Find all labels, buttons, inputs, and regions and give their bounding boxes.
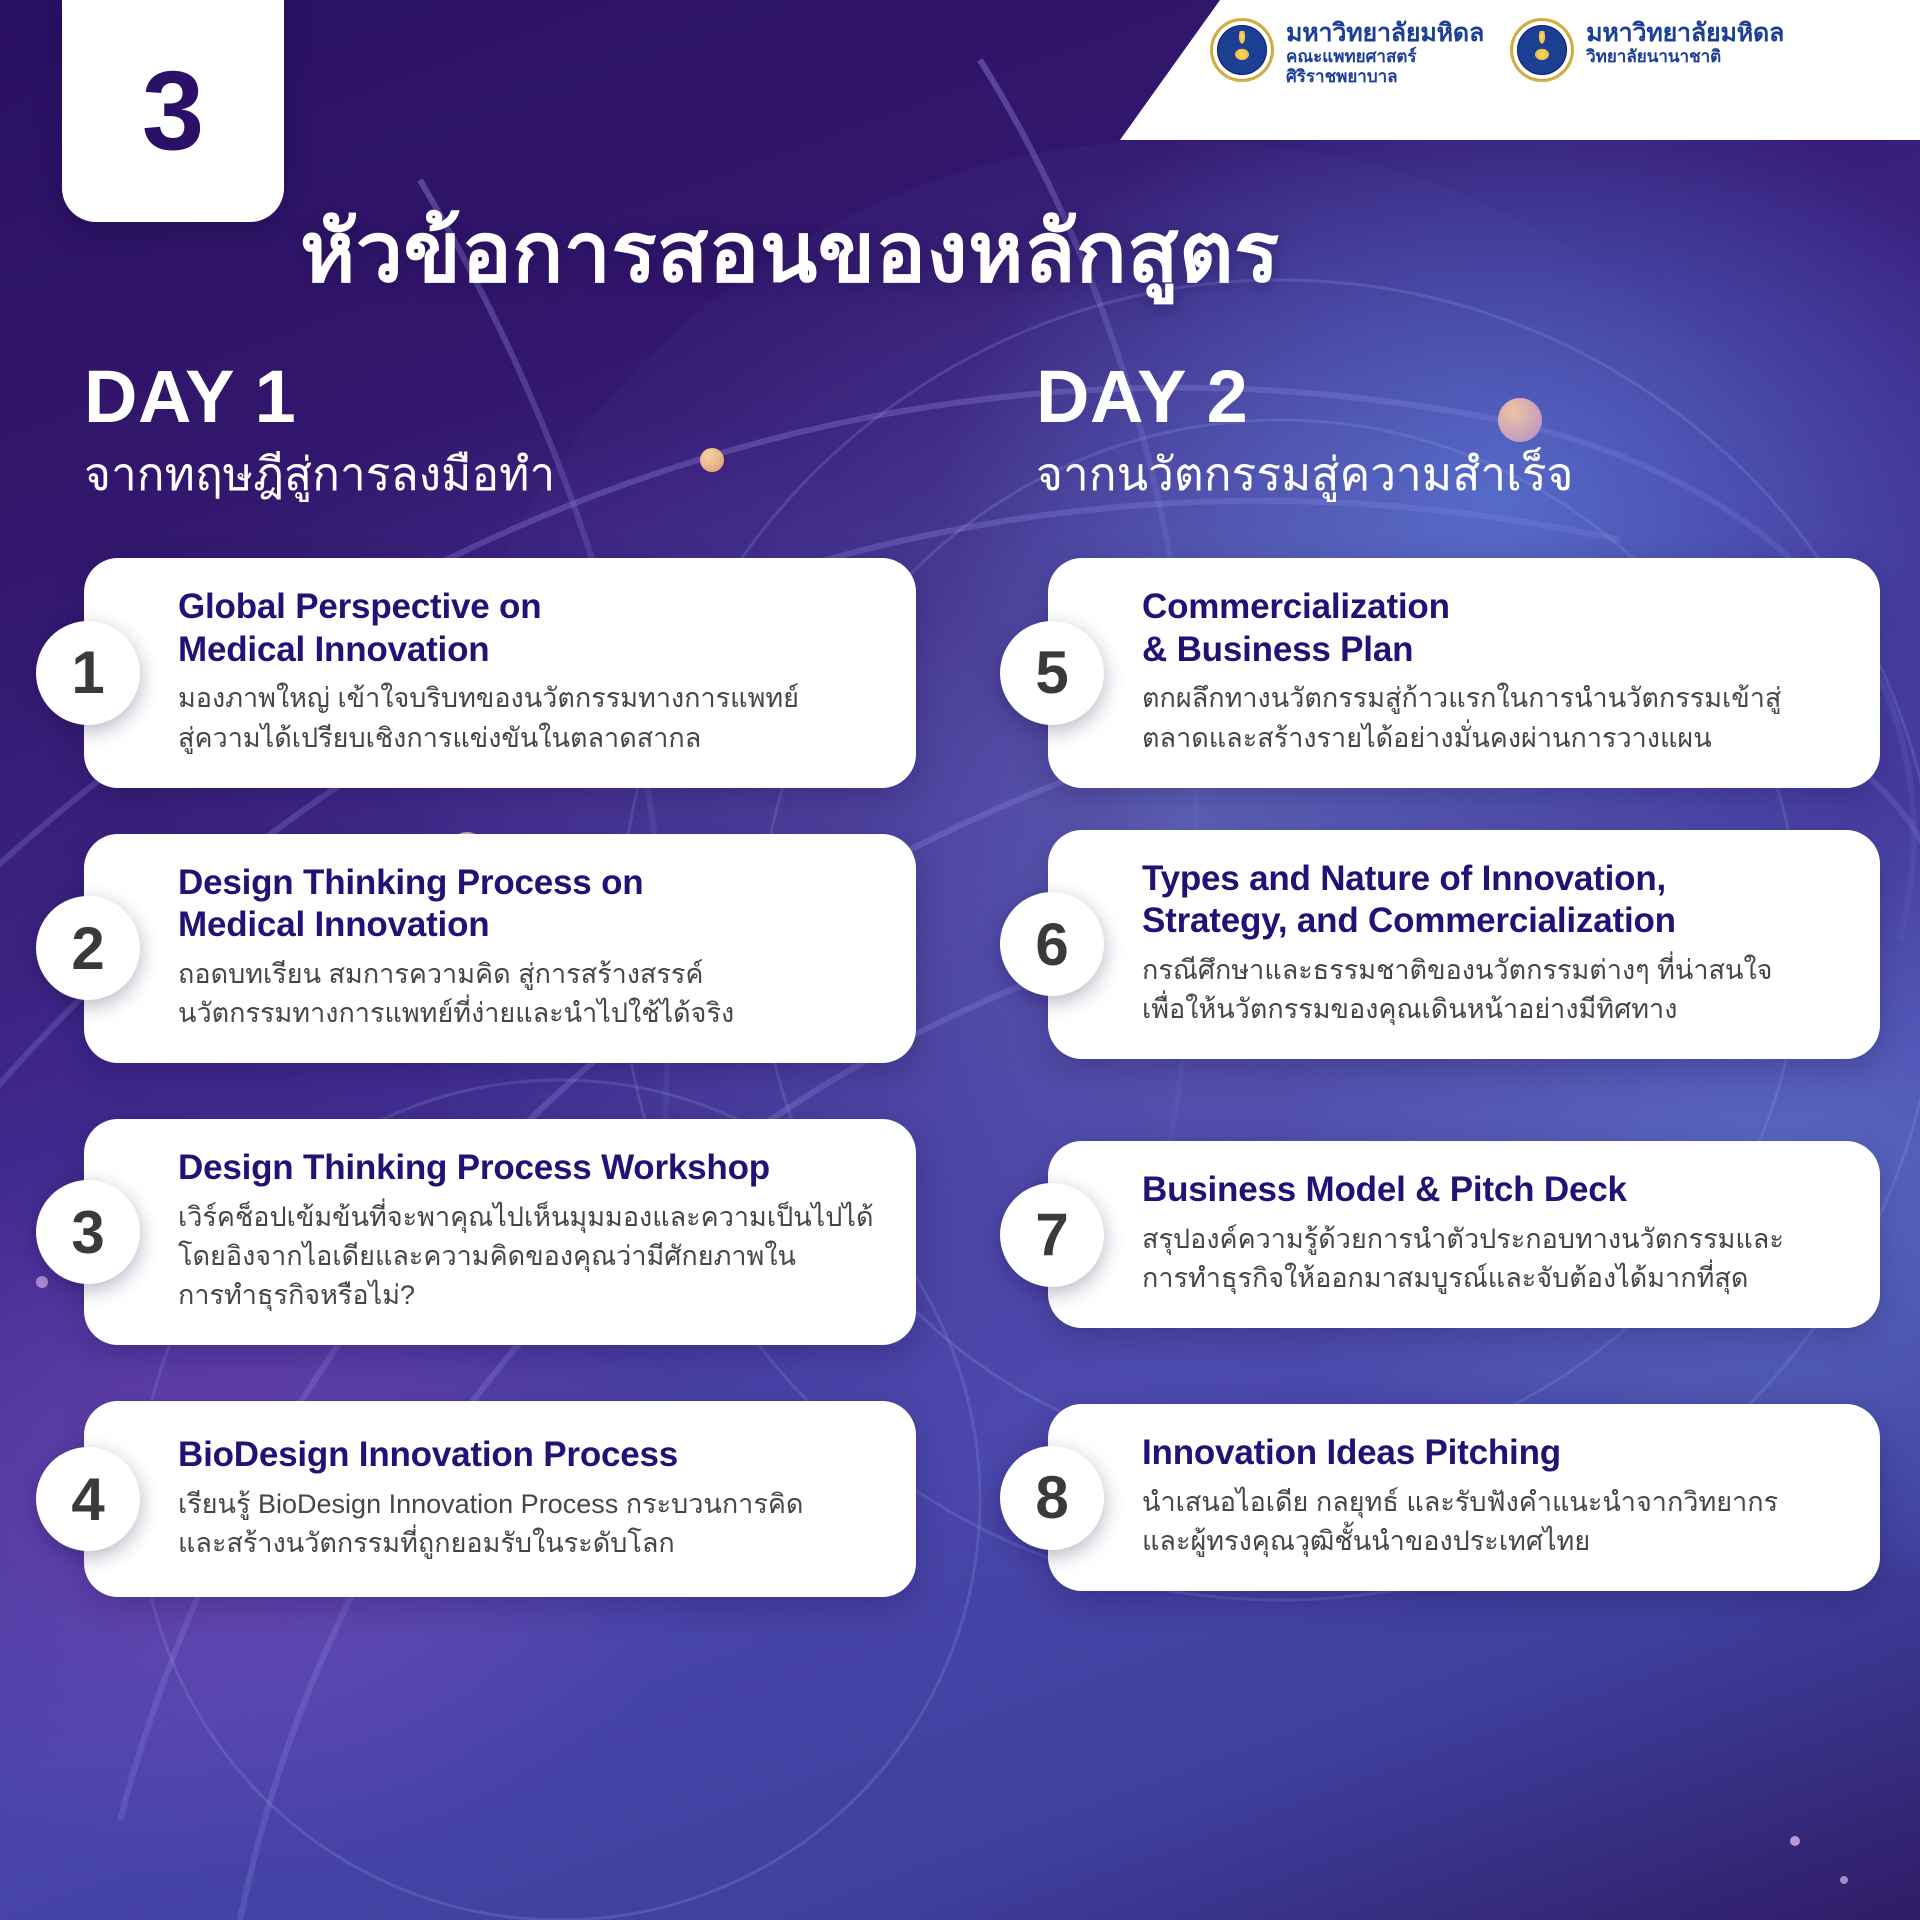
logo-siriraj: มหาวิทยาลัยมหิดล คณะแพทยศาสตร์ ศิริราชพย… xyxy=(1210,18,1484,88)
logo-sub-line1: คณะแพทยศาสตร์ xyxy=(1286,47,1484,67)
topic-title: Global Perspective onMedical Innovation xyxy=(178,586,876,671)
day2-label: DAY 2 xyxy=(1036,360,1574,434)
topic-title: Innovation Ideas Pitching xyxy=(1142,1432,1846,1475)
logo-sub-line2: ศิริราชพยาบาล xyxy=(1286,67,1484,87)
topic-item[interactable]: 4 BioDesign Innovation Process เรียนรู้ … xyxy=(36,1401,916,1597)
logo-group: มหาวิทยาลัยมหิดล คณะแพทยศาสตร์ ศิริราชพย… xyxy=(1210,18,1784,88)
day2-heading: DAY 2 จากนวัตกรรมสู่ความสำเร็จ xyxy=(1036,360,1574,501)
day2-subtitle: จากนวัตกรรมสู่ความสำเร็จ xyxy=(1036,448,1574,501)
decorative-dot xyxy=(700,448,724,472)
day1-label: DAY 1 xyxy=(84,360,555,434)
step-badge: 3 xyxy=(62,0,284,222)
page-title: หัวข้อการสอนของหลักสูตร xyxy=(300,184,1280,318)
logo-main-name: มหาวิทยาลัยมหิดล xyxy=(1586,20,1784,47)
topic-number-badge: 4 xyxy=(36,1447,140,1551)
topic-title: BioDesign Innovation Process xyxy=(178,1434,876,1477)
topic-description: กรณีศึกษาและธรรมชาติของนวัตกรรมต่างๆ ที่… xyxy=(1142,951,1846,1029)
topic-card[interactable]: Business Model & Pitch Deck สรุปองค์ความ… xyxy=(1048,1141,1880,1328)
topic-title: Business Model & Pitch Deck xyxy=(1142,1169,1846,1212)
topic-number-badge: 1 xyxy=(36,621,140,725)
day1-topic-list: 1 Global Perspective onMedical Innovatio… xyxy=(36,558,916,1617)
day1-subtitle: จากทฤษฎีสู่การลงมือทำ xyxy=(84,448,555,501)
topic-description: เรียนรู้ BioDesign Innovation Process กร… xyxy=(178,1485,876,1563)
topic-description: เวิร์คช็อปเข้มข้นที่จะพาคุณไปเห็นมุมมองแ… xyxy=(178,1198,876,1315)
topic-item[interactable]: 1 Global Perspective onMedical Innovatio… xyxy=(36,558,916,788)
topic-number-badge: 2 xyxy=(36,896,140,1000)
poster-root: มหาวิทยาลัยมหิดล คณะแพทยศาสตร์ ศิริราชพย… xyxy=(0,0,1920,1920)
topic-title: Commercialization& Business Plan xyxy=(1142,586,1846,671)
topic-description: สรุปองค์ความรู้ด้วยการนำตัวประกอบทางนวัต… xyxy=(1142,1220,1846,1298)
mahidol-seal-icon xyxy=(1210,18,1274,82)
topic-description: ตกผลึกทางนวัตกรรมสู่ก้าวแรกในการนำนวัตกร… xyxy=(1142,679,1846,757)
topic-title: Design Thinking Process onMedical Innova… xyxy=(178,862,876,947)
day1-heading: DAY 1 จากทฤษฎีสู่การลงมือทำ xyxy=(84,360,555,501)
logo-sub-line1: วิทยาลัยนานาชาติ xyxy=(1586,47,1784,67)
topic-description: ถอดบทเรียน สมการความคิด สู่การสร้างสรรค์… xyxy=(178,955,876,1033)
topic-card[interactable]: Design Thinking Process onMedical Innova… xyxy=(84,834,916,1064)
topic-item[interactable]: 5 Commercialization& Business Plan ตกผลึ… xyxy=(1000,558,1880,788)
topic-description: มองภาพใหญ่ เข้าใจบริบทของนวัตกรรมทางการแ… xyxy=(178,679,876,757)
topic-item[interactable]: 7 Business Model & Pitch Deck สรุปองค์คว… xyxy=(1000,1141,1880,1328)
seal-ring xyxy=(1510,18,1574,82)
topic-item[interactable]: 8 Innovation Ideas Pitching นำเสนอไอเดีย… xyxy=(1000,1404,1880,1591)
day2-topic-list: 5 Commercialization& Business Plan ตกผลึ… xyxy=(1000,558,1880,1611)
logo-siriraj-text: มหาวิทยาลัยมหิดล คณะแพทยศาสตร์ ศิริราชพย… xyxy=(1286,18,1484,88)
logo-muic: มหาวิทยาลัยมหิดล วิทยาลัยนานาชาติ xyxy=(1510,18,1784,82)
topic-item[interactable]: 6 Types and Nature of Innovation,Strateg… xyxy=(1000,830,1880,1060)
topic-number-badge: 7 xyxy=(1000,1183,1104,1287)
seal-ring xyxy=(1210,18,1274,82)
topic-card[interactable]: Types and Nature of Innovation,Strategy,… xyxy=(1048,830,1880,1060)
decorative-dot xyxy=(1790,1836,1800,1846)
step-number: 3 xyxy=(142,55,204,167)
topic-title: Types and Nature of Innovation,Strategy,… xyxy=(1142,858,1846,943)
mahidol-seal-icon xyxy=(1510,18,1574,82)
topic-number-badge: 8 xyxy=(1000,1446,1104,1550)
topic-number-badge: 3 xyxy=(36,1180,140,1284)
topic-card[interactable]: Innovation Ideas Pitching นำเสนอไอเดีย ก… xyxy=(1048,1404,1880,1591)
topic-item[interactable]: 2 Design Thinking Process onMedical Inno… xyxy=(36,834,916,1064)
logo-main-name: มหาวิทยาลัยมหิดล xyxy=(1286,20,1484,47)
topic-card[interactable]: BioDesign Innovation Process เรียนรู้ Bi… xyxy=(84,1401,916,1597)
topic-number-badge: 6 xyxy=(1000,892,1104,996)
topic-description: นำเสนอไอเดีย กลยุทธ์ และรับฟังคำแนะนำจาก… xyxy=(1142,1483,1846,1561)
logo-muic-text: มหาวิทยาลัยมหิดล วิทยาลัยนานาชาติ xyxy=(1586,18,1784,67)
topic-number-badge: 5 xyxy=(1000,621,1104,725)
topic-item[interactable]: 3 Design Thinking Process Workshop เวิร์… xyxy=(36,1119,916,1345)
topic-title: Design Thinking Process Workshop xyxy=(178,1147,876,1190)
topic-card[interactable]: Design Thinking Process Workshop เวิร์คช… xyxy=(84,1119,916,1345)
decorative-dot xyxy=(1840,1876,1848,1884)
topic-card[interactable]: Commercialization& Business Plan ตกผลึกท… xyxy=(1048,558,1880,788)
topic-card[interactable]: Global Perspective onMedical Innovation … xyxy=(84,558,916,788)
